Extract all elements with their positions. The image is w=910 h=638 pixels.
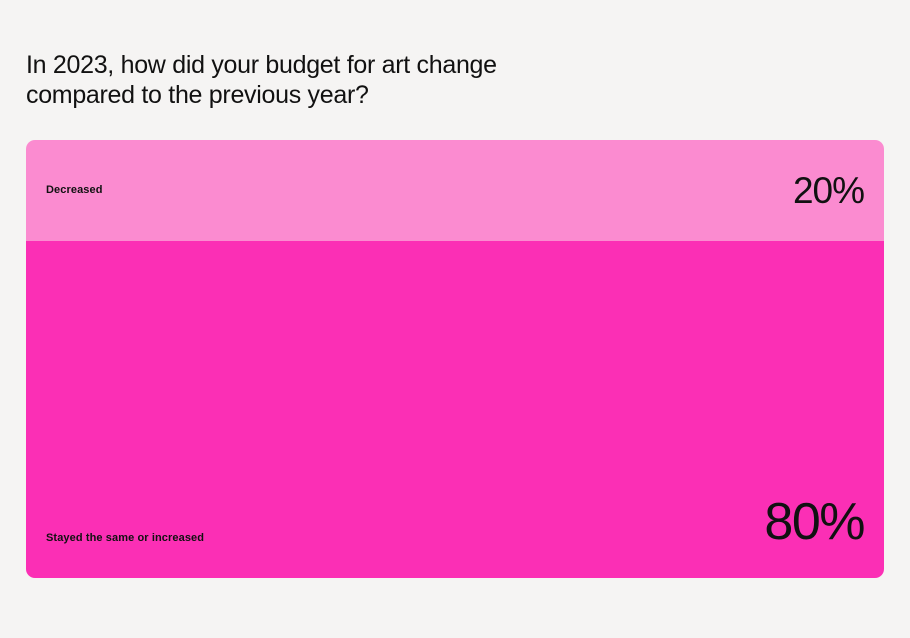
bar-segment-label: Stayed the same or increased bbox=[46, 533, 204, 544]
stacked-bar-chart: Decreased 20% Stayed the same or increas… bbox=[26, 140, 884, 578]
bar-segment-label: Decreased bbox=[46, 185, 103, 196]
bar-segment-stayed-same-or-increased[interactable]: Stayed the same or increased 80% bbox=[26, 241, 884, 578]
bar-segment-value: 80% bbox=[764, 496, 864, 548]
bar-segment-decreased[interactable]: Decreased 20% bbox=[26, 140, 884, 241]
chart-page: In 2023, how did your budget for art cha… bbox=[0, 0, 910, 638]
bar-segment-value: 20% bbox=[793, 172, 864, 209]
page-title: In 2023, how did your budget for art cha… bbox=[26, 50, 666, 110]
